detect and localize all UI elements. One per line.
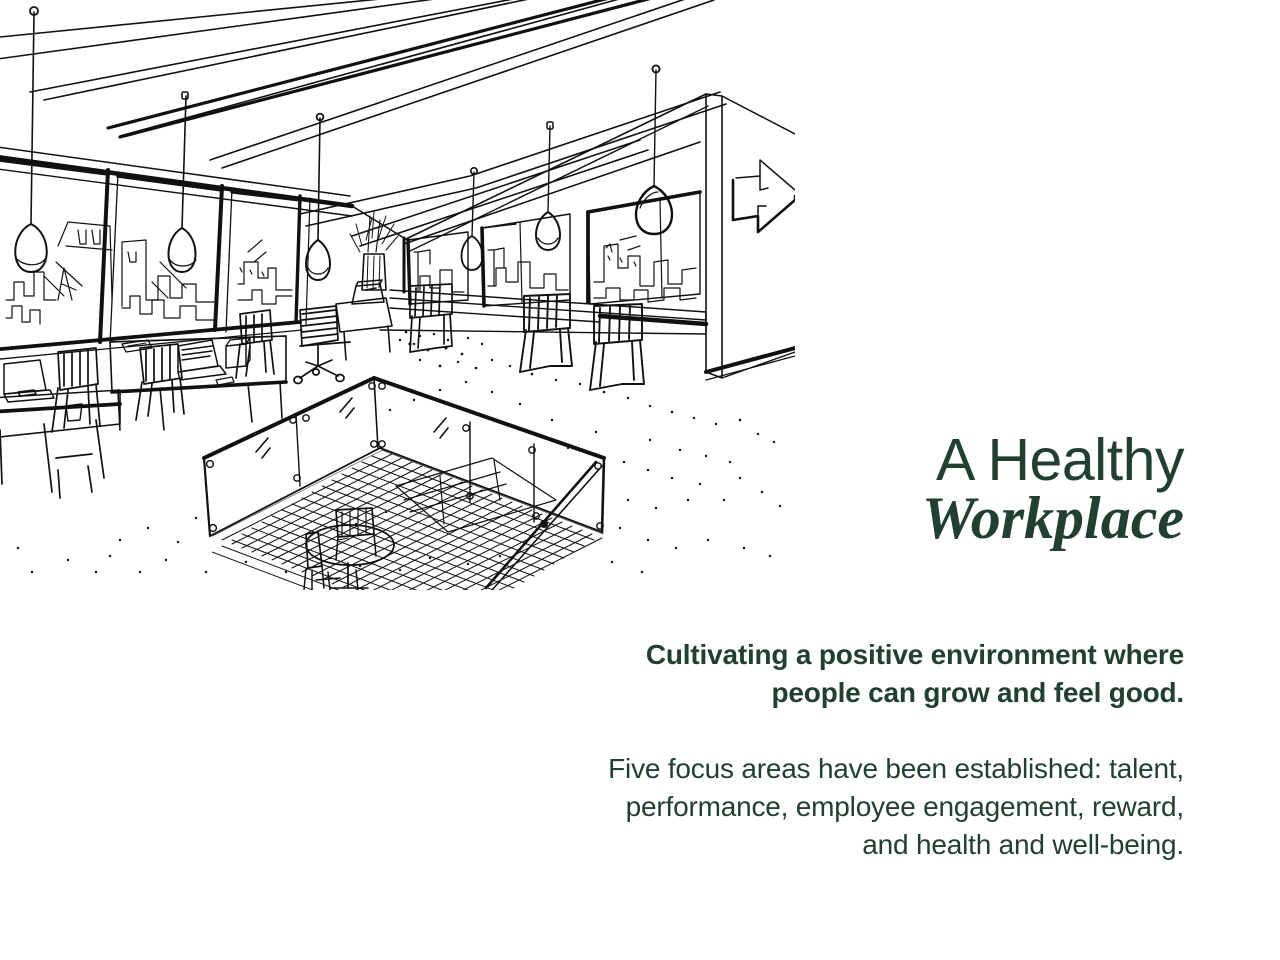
title-line-accent: Workplace	[480, 487, 1184, 549]
text-column: A Healthy Workplace Cultivating a positi…	[480, 430, 1184, 892]
page-title: A Healthy Workplace	[480, 430, 1184, 550]
body-line-3: and health and well-being.	[480, 826, 1184, 864]
body-text: Five focus areas have been established: …	[480, 750, 1184, 864]
body-line-2: performance, employee engagement, reward…	[480, 788, 1184, 826]
subtitle-line-2: people can grow and feel good.	[480, 674, 1184, 712]
body-line-1: Five focus areas have been established: …	[480, 750, 1184, 788]
title-line-primary: A Healthy	[480, 430, 1184, 491]
subtitle-text: Cultivating a positive environment where…	[480, 636, 1184, 712]
slide-canvas: A Healthy Workplace Cultivating a positi…	[0, 0, 1280, 960]
subtitle-line-1: Cultivating a positive environment where	[480, 636, 1184, 674]
